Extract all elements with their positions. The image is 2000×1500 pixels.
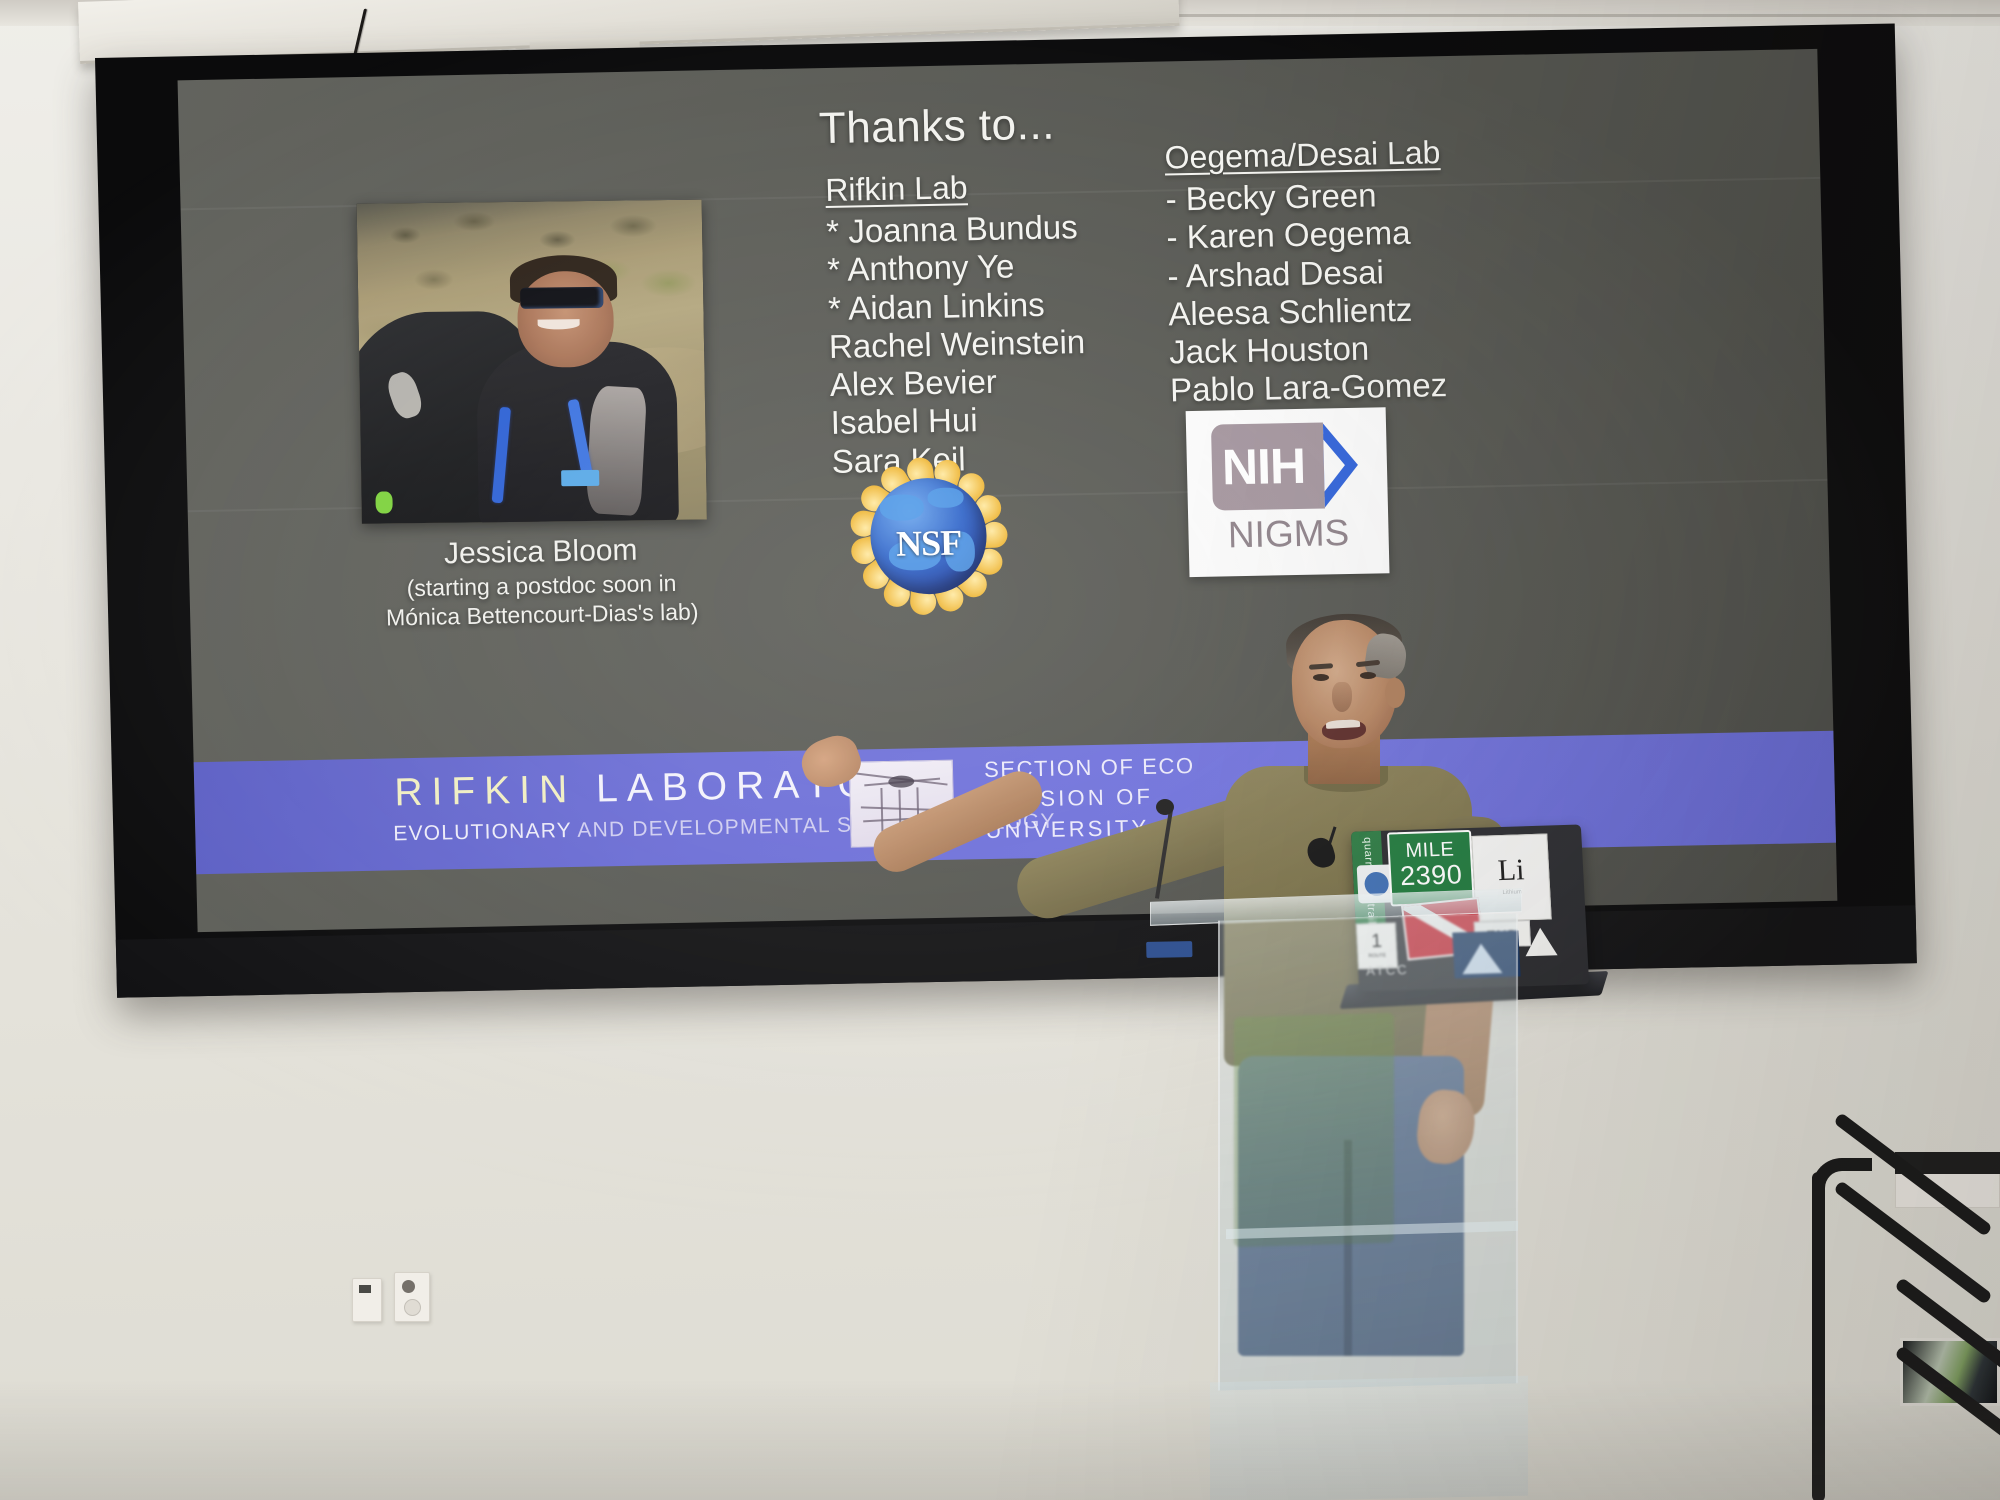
- acknowledgement-column-rifkin: Rifkin Lab * Joanna Bundus * Anthony Ye …: [825, 167, 1088, 481]
- photo-backpack-strap: [384, 369, 425, 422]
- floor-shading: [0, 1380, 2000, 1500]
- presenter-eye-left: [1313, 674, 1329, 681]
- list-item: Pablo Lara-Gomez: [1170, 366, 1448, 410]
- photo-green-accent: [375, 491, 393, 514]
- list-item: * Anthony Ye: [827, 246, 1084, 289]
- column-heading: Rifkin Lab: [825, 167, 1082, 209]
- list-item: - Karen Oegema: [1166, 213, 1444, 257]
- screen-label-blue: [1146, 941, 1192, 958]
- presenter-eye-right: [1360, 672, 1376, 679]
- wall-light-switch-plate[interactable]: [352, 1278, 382, 1322]
- list-item: - Arshad Desai: [1167, 252, 1445, 296]
- jessica-bloom-photo: [357, 200, 707, 524]
- list-item: * Joanna Bundus: [826, 208, 1083, 251]
- list-item: Aleesa Schlientz: [1168, 290, 1446, 334]
- list-item: Rachel Weinstein: [829, 323, 1086, 366]
- banner-title-rifkin: RIFKIN: [394, 768, 577, 814]
- podium-reflection: [1234, 1013, 1394, 1247]
- podium-mic-icon: [1156, 799, 1174, 815]
- nigms-wordmark: NIGMS: [1188, 511, 1389, 557]
- nih-nigms-logo: NIH NIGMS: [1186, 407, 1390, 577]
- photo-caption: Jessica Bloom (starting a postdoc soon i…: [300, 531, 782, 633]
- nih-mark-icon: NIH: [1211, 422, 1363, 511]
- nsf-wordmark: NSF: [870, 521, 987, 565]
- photo-pack-logo: [561, 470, 599, 486]
- projection-screen-frame: Thanks to...: [95, 23, 1917, 997]
- list-item: - Becky Green: [1165, 175, 1443, 219]
- list-item: Alex Bevier: [829, 361, 1086, 404]
- presenter-ear: [1385, 678, 1405, 708]
- column-heading: Oegema/Desai Lab: [1164, 134, 1442, 176]
- caption-name: Jessica Bloom: [300, 531, 781, 574]
- mile-number: 2390: [1390, 859, 1472, 892]
- list-item: * Aidan Linkins: [828, 285, 1085, 328]
- wall-outlet-plate[interactable]: [394, 1272, 430, 1322]
- acknowledgement-column-oegema-desai: Oegema/Desai Lab - Becky Green - Karen O…: [1164, 134, 1447, 410]
- lecture-hall-scene: Thanks to...: [0, 0, 2000, 1500]
- sunglasses-icon: [520, 287, 603, 309]
- slide-title: Thanks to...: [818, 100, 1055, 155]
- nsf-logo: NSF: [847, 455, 1011, 618]
- photo-jacket-highlight: [585, 385, 647, 516]
- list-item: Isabel Hui: [830, 399, 1087, 442]
- switch-toggle[interactable]: [359, 1285, 371, 1293]
- presenter-nose: [1332, 682, 1352, 712]
- element-symbol: Li: [1473, 853, 1549, 889]
- nih-wordmark: NIH: [1221, 439, 1305, 495]
- caption-sub-line-2: Mónica Bettencourt-Dias's lab): [302, 597, 783, 633]
- banner-subtitle-part-1: EVOLUTIONARY: [393, 819, 572, 845]
- list-item: Jack Houston: [1169, 328, 1447, 372]
- triangle-sticker: [1518, 923, 1566, 964]
